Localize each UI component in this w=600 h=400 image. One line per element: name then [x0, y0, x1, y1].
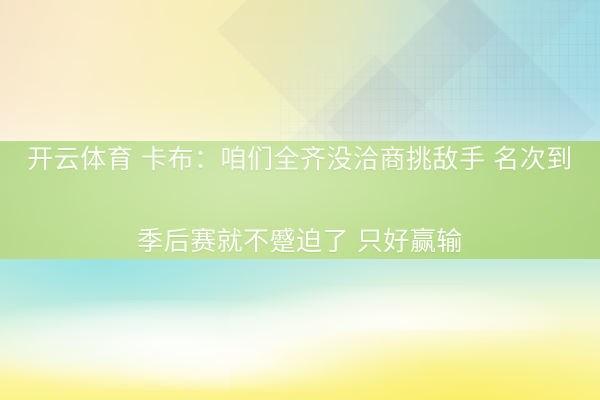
caption-text: 开云体育 卡布：咱们全齐没洽商挑敌手 名次到 季后赛就不蹙迫了 只好赢输: [8, 98, 592, 303]
caption-band: 开云体育 卡布：咱们全齐没洽商挑敌手 名次到 季后赛就不蹙迫了 只好赢输: [0, 141, 600, 259]
background-bottom-glow: [230, 330, 600, 400]
banner-image: 开云体育 卡布：咱们全齐没洽商挑敌手 名次到 季后赛就不蹙迫了 只好赢输: [0, 0, 600, 400]
caption-line-2: 季后赛就不蹙迫了 只好赢输: [8, 221, 592, 262]
caption-line-1: 开云体育 卡布：咱们全齐没洽商挑敌手 名次到: [8, 139, 592, 180]
